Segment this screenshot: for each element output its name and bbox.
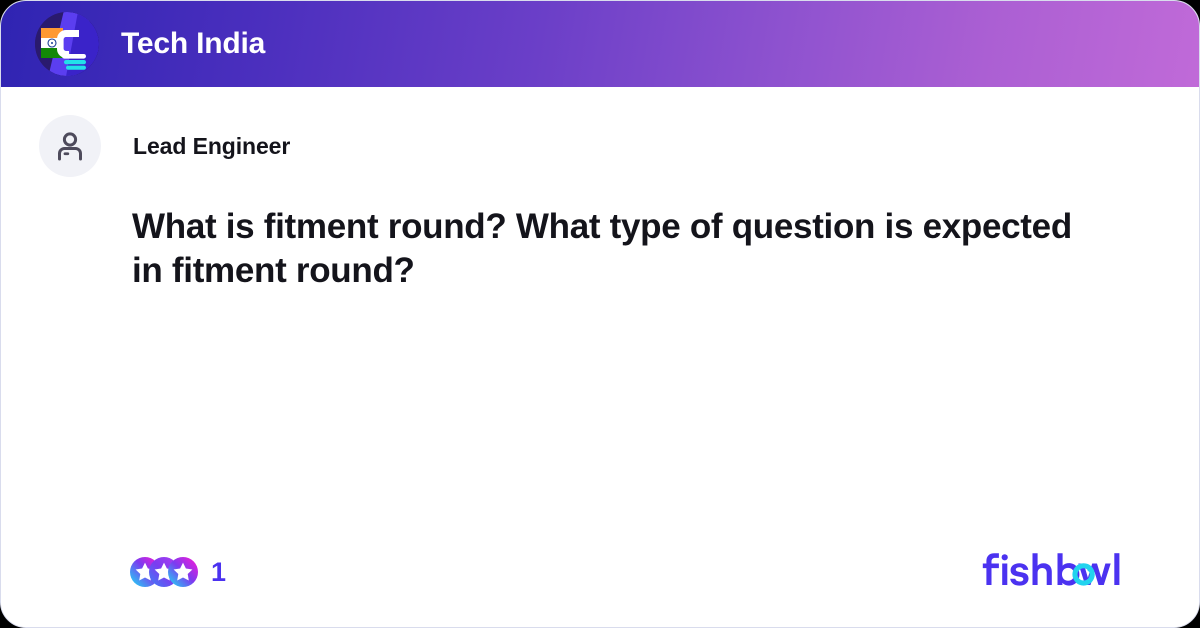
group-header: Tech India [1,1,1199,87]
reaction-count-label: 1 [211,559,226,586]
tech-india-group-logo-icon [35,12,99,76]
avatar [39,115,101,177]
group-name-label: Tech India [121,27,265,61]
reaction-badges[interactable] [130,557,198,587]
fishbowl-logo [981,545,1127,591]
post-question-text: What is fitment round? What type of ques… [132,205,1082,293]
reactions-group[interactable]: 1 [130,557,226,587]
post-card: Tech India Lead Engineer What is fitment… [0,0,1200,628]
post-body: Lead Engineer What is fitment round? Wha… [1,87,1199,628]
star-reaction-icon[interactable] [168,557,198,587]
author-title-label: Lead Engineer [133,133,290,160]
post-author: Lead Engineer [39,115,290,177]
